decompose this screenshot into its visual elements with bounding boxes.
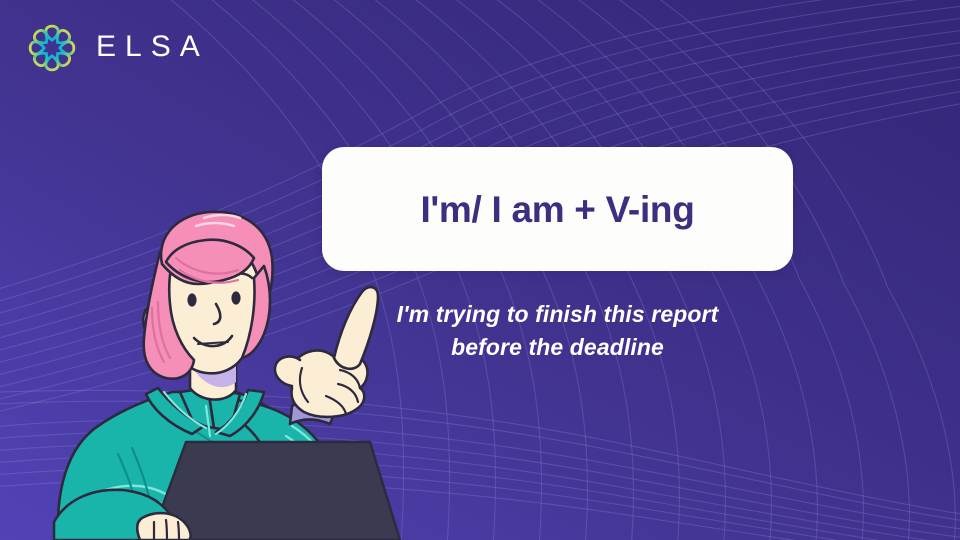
example-sentence-line-2: before the deadline [322,331,793,364]
example-sentence-line-1: I'm trying to finish this report [322,298,793,331]
grammar-title-card: I'm/ I am + V-ing [322,147,793,271]
brand-logo[interactable]: ELSA [24,20,209,76]
elsa-flower-logo-icon [24,20,80,76]
brand-wordmark: ELSA [94,32,209,64]
page-title: I'm/ I am + V-ing [420,191,694,228]
example-sentence: I'm trying to finish this report before … [322,298,793,365]
slide-canvas: ELSA [0,0,960,540]
